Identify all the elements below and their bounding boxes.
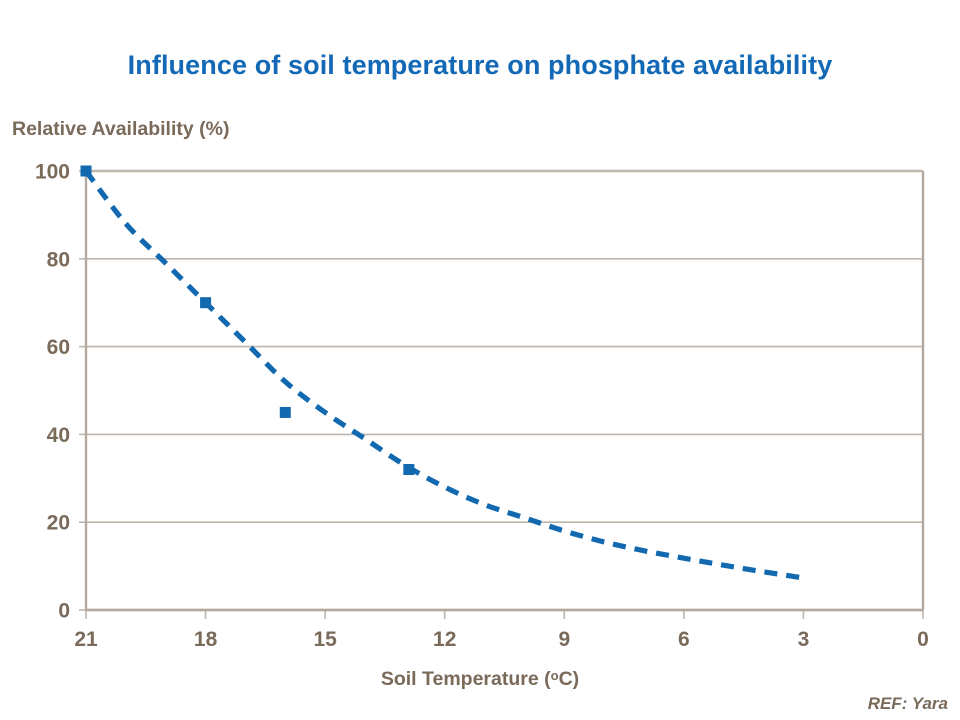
data-point-marker	[280, 407, 291, 418]
y-tick-label: 0	[58, 600, 70, 623]
x-tick-label: 3	[798, 628, 810, 651]
y-tick-label: 100	[35, 161, 70, 184]
x-tick-label: 0	[917, 628, 929, 651]
x-tick-label: 18	[194, 628, 218, 651]
data-point-marker	[403, 464, 414, 475]
trend-line	[86, 171, 803, 578]
data-point-marker	[81, 166, 92, 177]
x-tick-label: 15	[313, 628, 337, 651]
y-tick-label: 20	[47, 512, 70, 535]
x-tick-label: 6	[678, 628, 690, 651]
chart-container: Influence of soil temperature on phospha…	[0, 0, 960, 720]
x-tick-label: 9	[558, 628, 570, 651]
tick-marks-group	[79, 171, 923, 619]
data-markers-group	[81, 166, 415, 476]
axis-lines-group	[86, 171, 923, 610]
data-point-marker	[200, 297, 211, 308]
trend-line-group	[86, 171, 803, 578]
y-tick-labels-group: 020406080100	[35, 161, 70, 623]
x-tick-label: 12	[433, 628, 456, 651]
x-tick-label: 21	[74, 628, 98, 651]
y-tick-label: 60	[47, 336, 70, 359]
x-tick-labels-group: 211815129630	[74, 628, 929, 651]
y-tick-label: 80	[47, 248, 70, 271]
y-tick-label: 40	[47, 424, 70, 447]
gridlines-group	[86, 171, 923, 610]
plot-area: 020406080100 211815129630	[0, 0, 960, 720]
